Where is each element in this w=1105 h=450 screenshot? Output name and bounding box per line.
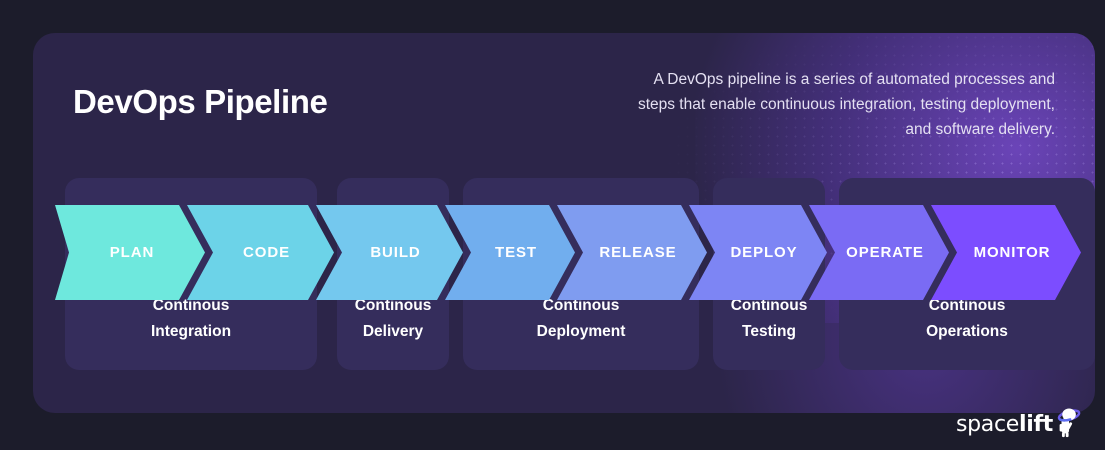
pipeline-stage-release[interactable]: RELEASE [557,205,707,300]
spacelift-logo: spacelift [956,406,1089,442]
pipeline-chevron-strip: PLANCODEBUILDTESTRELEASEDEPLOYOPERATEMON… [55,205,1085,300]
pipeline-stage-test[interactable]: TEST [445,205,575,300]
page-description: A DevOps pipeline is a series of automat… [630,67,1055,142]
pipeline-stage-label: OPERATE [834,244,924,261]
pipeline-stage-label: RELEASE [587,244,676,261]
pipeline-stage-plan[interactable]: PLAN [55,205,205,300]
stage-card-label: ContinousDelivery [337,293,449,346]
pipeline-stage-label: DEPLOY [718,244,797,261]
stage-card-label: ContinousDeployment [463,293,699,346]
infographic-panel: DevOps Pipeline A DevOps pipeline is a s… [33,33,1095,413]
pipeline-stage-code[interactable]: CODE [187,205,334,300]
stage-card-label: ContinousIntegration [65,293,317,346]
pipeline-stage-build[interactable]: BUILD [316,205,463,300]
pipeline-stage-label: BUILD [358,244,420,261]
astronaut-planet-icon [1051,406,1089,440]
pipeline-stage-operate[interactable]: OPERATE [809,205,949,300]
panel-header: DevOps Pipeline A DevOps pipeline is a s… [33,33,1095,142]
page-title: DevOps Pipeline [73,67,327,124]
stage-card-label: ContinousTesting [713,293,825,346]
stage-card-label: ContinousOperations [839,293,1095,346]
pipeline-stage-label: CODE [231,244,290,261]
pipeline-stage-label: PLAN [106,244,154,261]
pipeline-stage-deploy[interactable]: DEPLOY [689,205,827,300]
pipeline-stage-monitor[interactable]: MONITOR [931,205,1081,300]
pipeline-stage-label: MONITOR [962,244,1051,261]
pipeline-stage-label: TEST [483,244,537,261]
logo-wordmark: spacelift [956,412,1053,437]
